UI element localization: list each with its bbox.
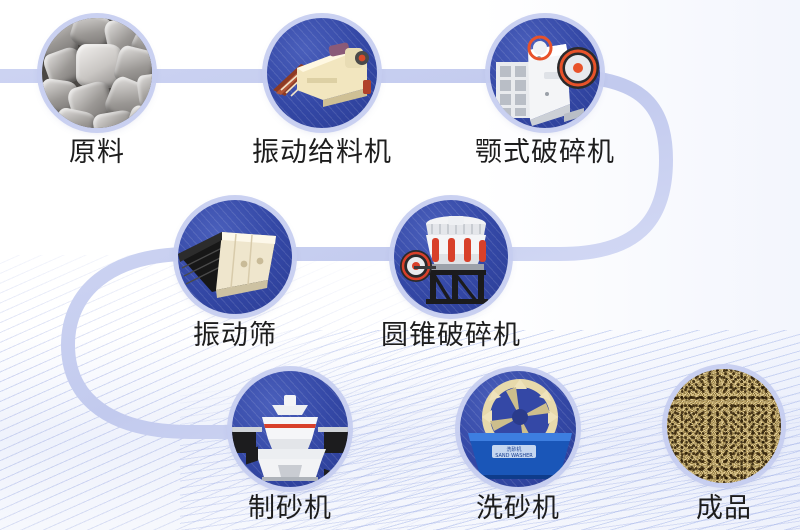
node-label-vibrating-feeder: 振动给料机 — [225, 139, 419, 166]
cone-crusher-image — [394, 200, 508, 314]
jaw-crusher-image — [490, 18, 600, 128]
raw-material-image — [42, 18, 152, 128]
vibrating-feeder-image — [267, 18, 377, 128]
node-label-cone-crusher: 圆锥破碎机 — [354, 322, 548, 349]
svg-text:SAND WASHER: SAND WASHER — [495, 453, 533, 459]
svg-text:洗砂机: 洗砂机 — [506, 446, 521, 453]
finished-product-image — [667, 369, 781, 483]
sand-making-machine-image — [232, 371, 348, 487]
node-label-raw-material: 原料 — [0, 139, 194, 166]
node-label-sand-maker: 制砂机 — [193, 495, 387, 522]
node-label-vibrating-screen: 振动筛 — [138, 322, 332, 349]
vibrating-screen-image — [178, 200, 292, 314]
node-label-jaw-crusher: 颚式破碎机 — [448, 139, 642, 166]
sand-washing-machine-image: 洗砂机 SAND WASHER — [460, 371, 576, 487]
node-label-sand-washer: 洗砂机 — [421, 495, 615, 522]
node-label-finished-product: 成品 — [627, 495, 800, 522]
process-flow-diagram: 原料 — [0, 0, 800, 530]
